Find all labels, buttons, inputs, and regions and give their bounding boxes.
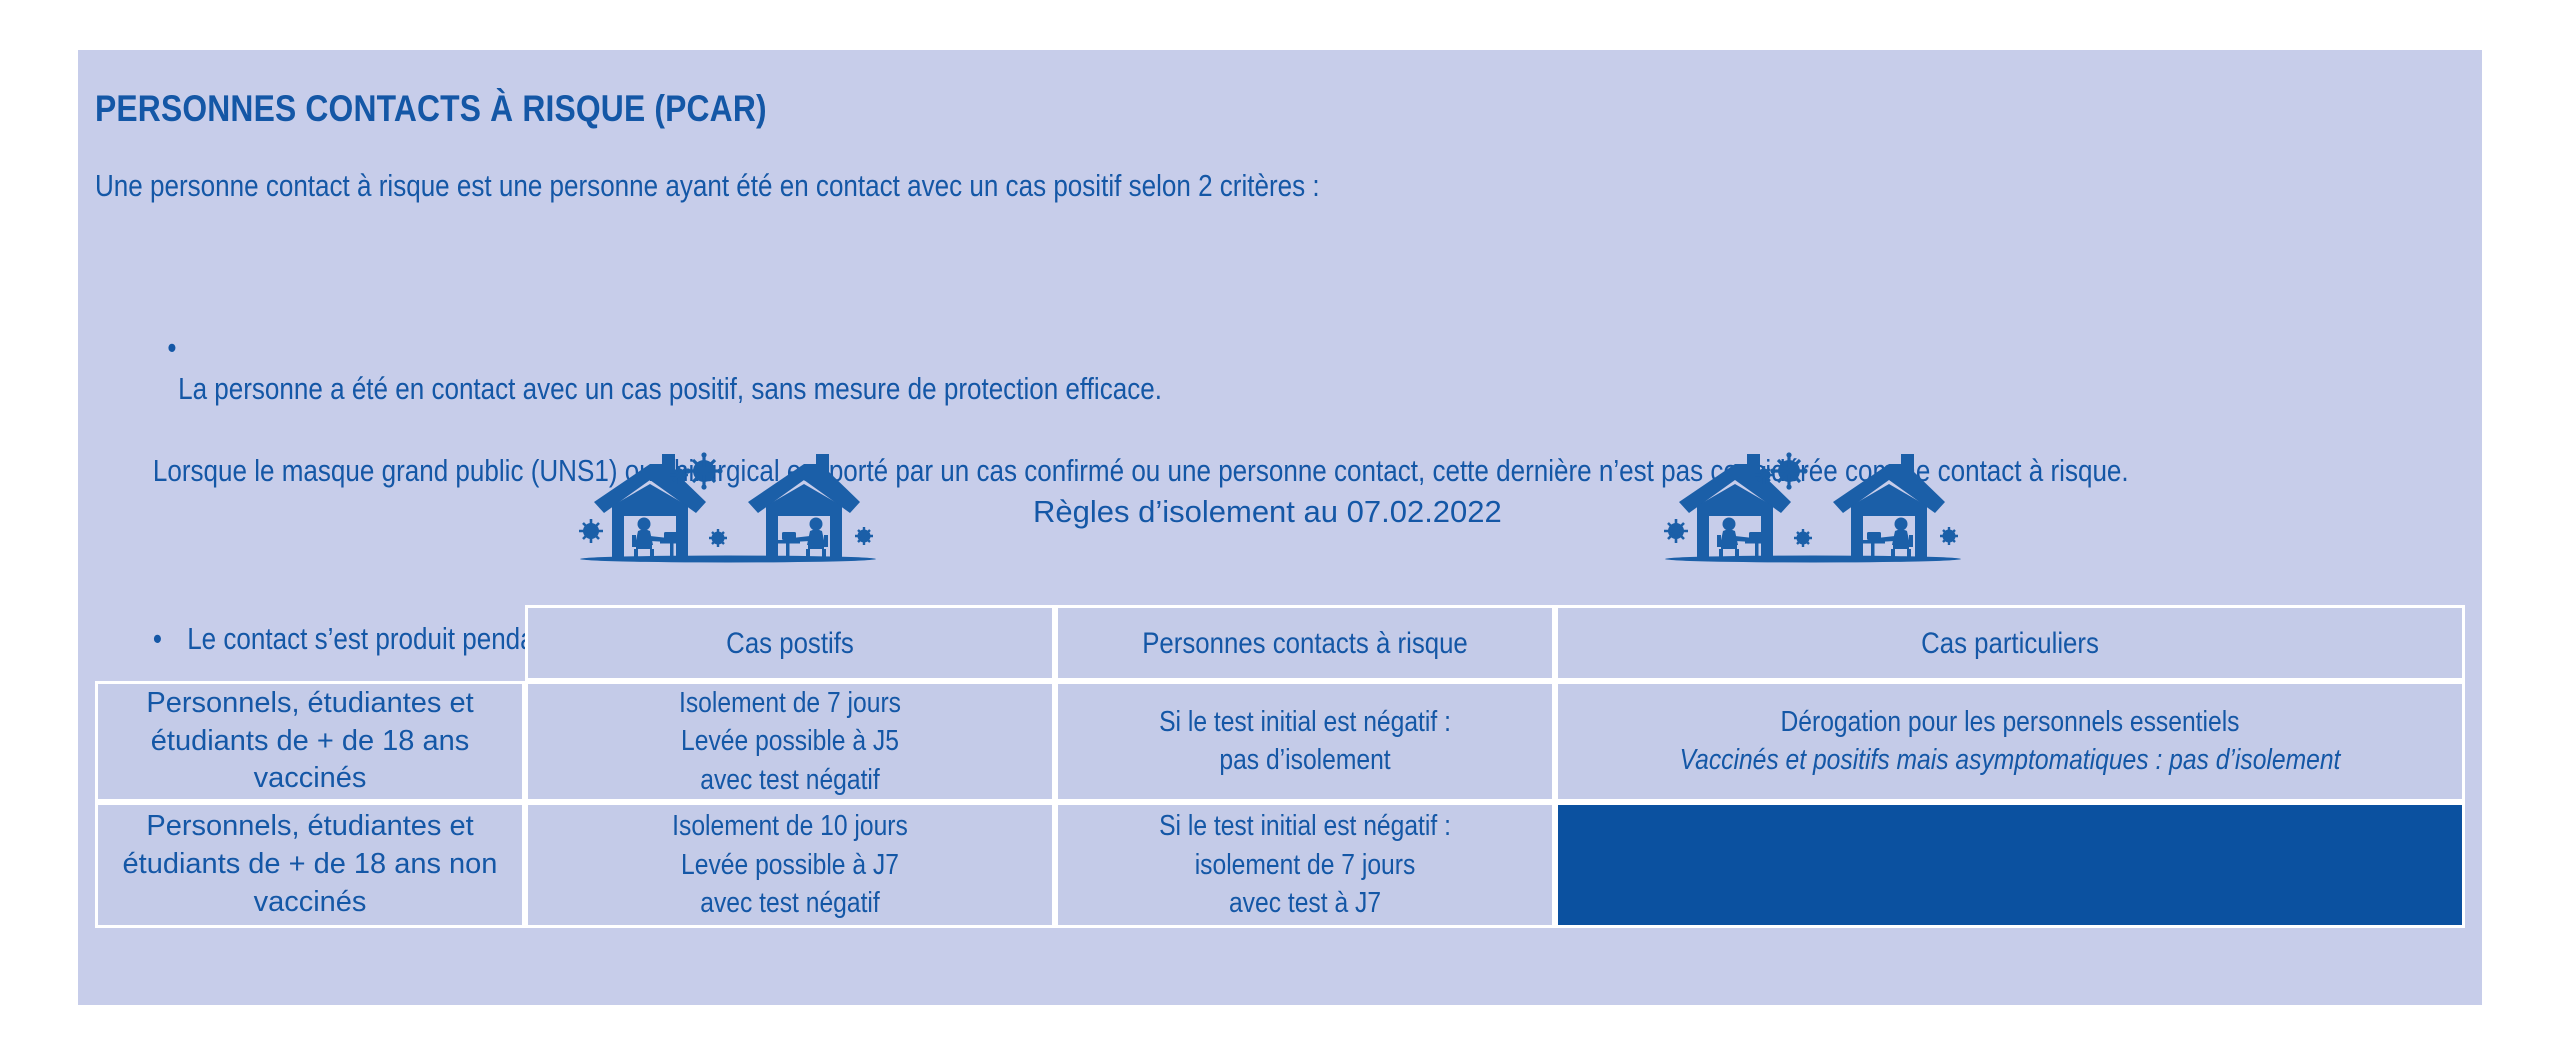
row1-category-cell: Personnels, étudiantes et étudiants de +… bbox=[95, 681, 525, 802]
two-houses-isolation-icon bbox=[578, 450, 878, 570]
rules-date-caption: Règles d’isolement au 07.02.2022 bbox=[1033, 494, 1502, 530]
row2-pcar-text: Si le test initial est négatif : isoleme… bbox=[1095, 807, 1515, 922]
two-houses-isolation-icon-2 bbox=[1663, 450, 1963, 570]
row1-derogation-text: Dérogation pour les personnels essentiel… bbox=[1626, 703, 2394, 741]
pcar-info-panel: PERSONNES CONTACTS À RISQUE (PCAR) Une p… bbox=[78, 50, 2482, 1005]
header-cell-cas-positifs: Cas postifs bbox=[525, 605, 1055, 681]
bullet-marker-icon: • bbox=[167, 330, 176, 365]
isolation-rules-table: Cas postifs Personnes contacts à risque … bbox=[95, 605, 2465, 928]
row1-cas-positifs-cell: Isolement de 7 jours Levée possible à J5… bbox=[525, 681, 1055, 802]
header-label-pcar: Personnes contacts à risque bbox=[1093, 624, 1518, 663]
row2-category-label: Personnels, étudiantes et étudiants de +… bbox=[98, 808, 522, 921]
row1-cas-particuliers-cell: Dérogation pour les personnels essentiel… bbox=[1555, 681, 2465, 802]
header-cell-pcar: Personnes contacts à risque bbox=[1055, 605, 1555, 681]
table-row: Personnels, étudiantes et étudiants de +… bbox=[95, 681, 2465, 802]
row2-cas-particuliers-cell-filled bbox=[1555, 802, 2465, 928]
row2-pcar-cell: Si le test initial est négatif : isoleme… bbox=[1055, 802, 1555, 928]
row2-cas-positifs-cell: Isolement de 10 jours Levée possible à J… bbox=[525, 802, 1055, 928]
row1-category-label: Personnels, étudiantes et étudiants de +… bbox=[98, 685, 522, 798]
bullet-1-lead: La personne a été en contact avec un cas… bbox=[178, 371, 1162, 406]
header-cell-empty bbox=[95, 605, 525, 681]
illustration-row: Règles d’isolement au 07.02.2022 bbox=[78, 450, 2482, 570]
row1-vaccines-note-text: Vaccinés et positifs mais asymptomatique… bbox=[1626, 741, 2394, 779]
row2-cas-positifs-text: Isolement de 10 jours Levée possible à J… bbox=[567, 807, 1012, 922]
table-row: Personnels, étudiantes et étudiants de +… bbox=[95, 802, 2465, 928]
table-header-row: Cas postifs Personnes contacts à risque … bbox=[95, 605, 2465, 681]
row2-category-cell: Personnels, étudiantes et étudiants de +… bbox=[95, 802, 525, 928]
header-cell-cas-particuliers: Cas particuliers bbox=[1555, 605, 2465, 681]
intro-paragraph: Une personne contact à risque est une pe… bbox=[95, 165, 2474, 206]
row1-pcar-text: Si le test initial est négatif : pas d’i… bbox=[1095, 703, 1515, 780]
header-label-cas-particuliers: Cas particuliers bbox=[1621, 624, 2398, 663]
page-title: PERSONNES CONTACTS À RISQUE (PCAR) bbox=[95, 88, 767, 130]
row1-cas-positifs-text: Isolement de 7 jours Levée possible à J5… bbox=[567, 684, 1012, 799]
header-label-cas-positifs: Cas postifs bbox=[565, 624, 1016, 663]
row1-pcar-cell: Si le test initial est négatif : pas d’i… bbox=[1055, 681, 1555, 802]
